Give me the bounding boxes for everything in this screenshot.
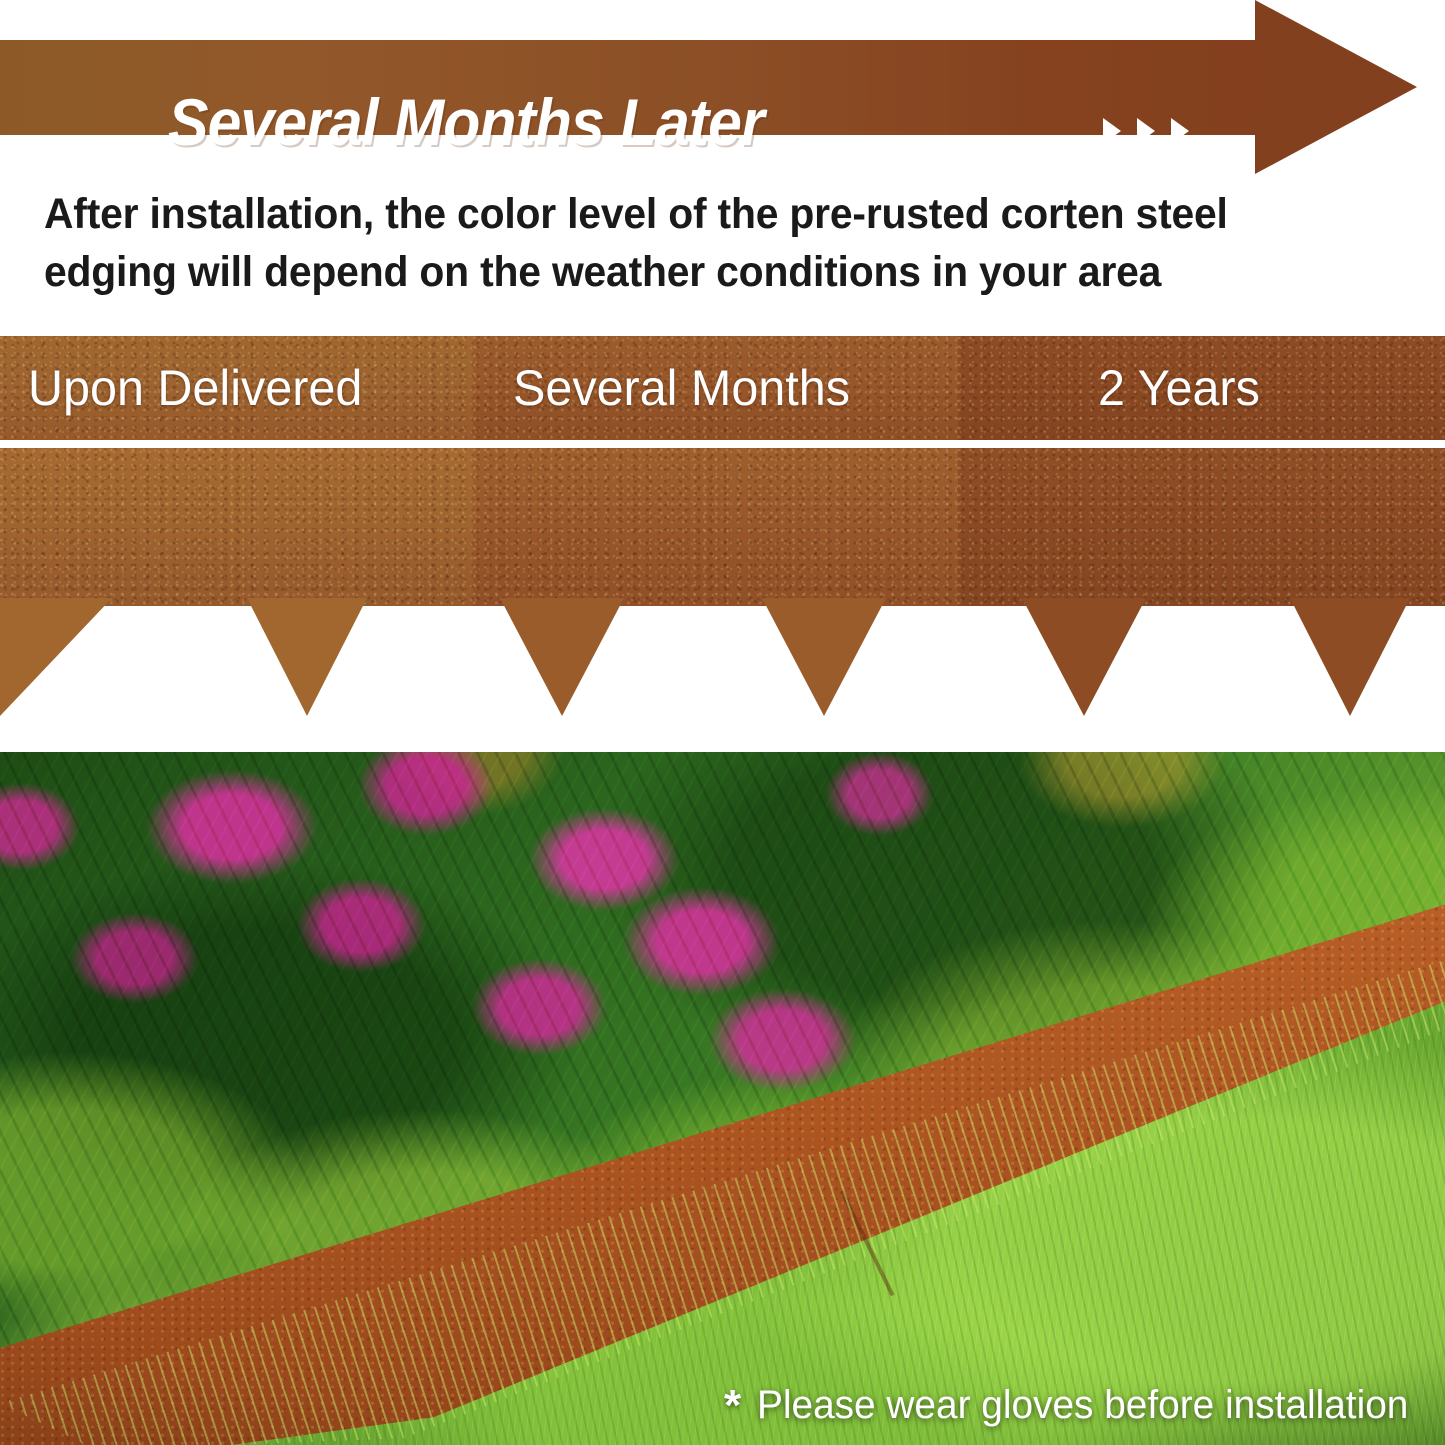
description-line-1: After installation, the color level of t… <box>44 186 1336 244</box>
stage-label-text: Upon Delivered <box>28 359 362 417</box>
chevron-right-icon <box>1137 118 1155 144</box>
strip-spike <box>247 598 367 716</box>
chevron-group <box>1103 118 1189 144</box>
strip-spike <box>1022 598 1146 716</box>
stage-label-text: 2 Years <box>1098 359 1260 417</box>
description-text: After installation, the color level of t… <box>44 186 1336 301</box>
strip-spike <box>762 598 886 716</box>
strip-spike <box>0 598 112 716</box>
strip-spike <box>500 598 624 716</box>
chevron-right-icon <box>1171 118 1189 144</box>
infographic-root: Several Months Later After installation,… <box>0 0 1445 1445</box>
garden-photo <box>0 752 1445 1445</box>
chevron-right-icon <box>1103 118 1121 144</box>
edging-strip-sample <box>0 448 1445 718</box>
caption-text: Please wear gloves before installation <box>757 1383 1408 1428</box>
stage-label-several-months: Several Months <box>473 336 958 440</box>
strip-spike-row <box>0 598 1445 718</box>
strip-segment-several-months <box>473 448 958 606</box>
strip-spike <box>1290 598 1410 716</box>
strip-segment-2-years <box>958 448 1445 606</box>
banner-title: Several Months Later <box>168 84 764 160</box>
arrow-head-icon <box>1255 0 1417 174</box>
arrow-banner: Several Months Later <box>0 40 1445 135</box>
asterisk-icon: * <box>724 1384 741 1428</box>
description-line-2: edging will depend on the weather condit… <box>44 244 1336 302</box>
stage-label-band: Upon Delivered Several Months 2 Years <box>0 336 1445 440</box>
stage-label-text: Several Months <box>513 359 850 417</box>
strip-segment-upon-delivered <box>0 448 473 606</box>
photo-vignette <box>0 752 1445 1445</box>
stage-label-2-years: 2 Years <box>958 336 1445 440</box>
caption-row: * Please wear gloves before installation <box>724 1383 1429 1428</box>
stage-label-upon-delivered: Upon Delivered <box>0 336 473 440</box>
